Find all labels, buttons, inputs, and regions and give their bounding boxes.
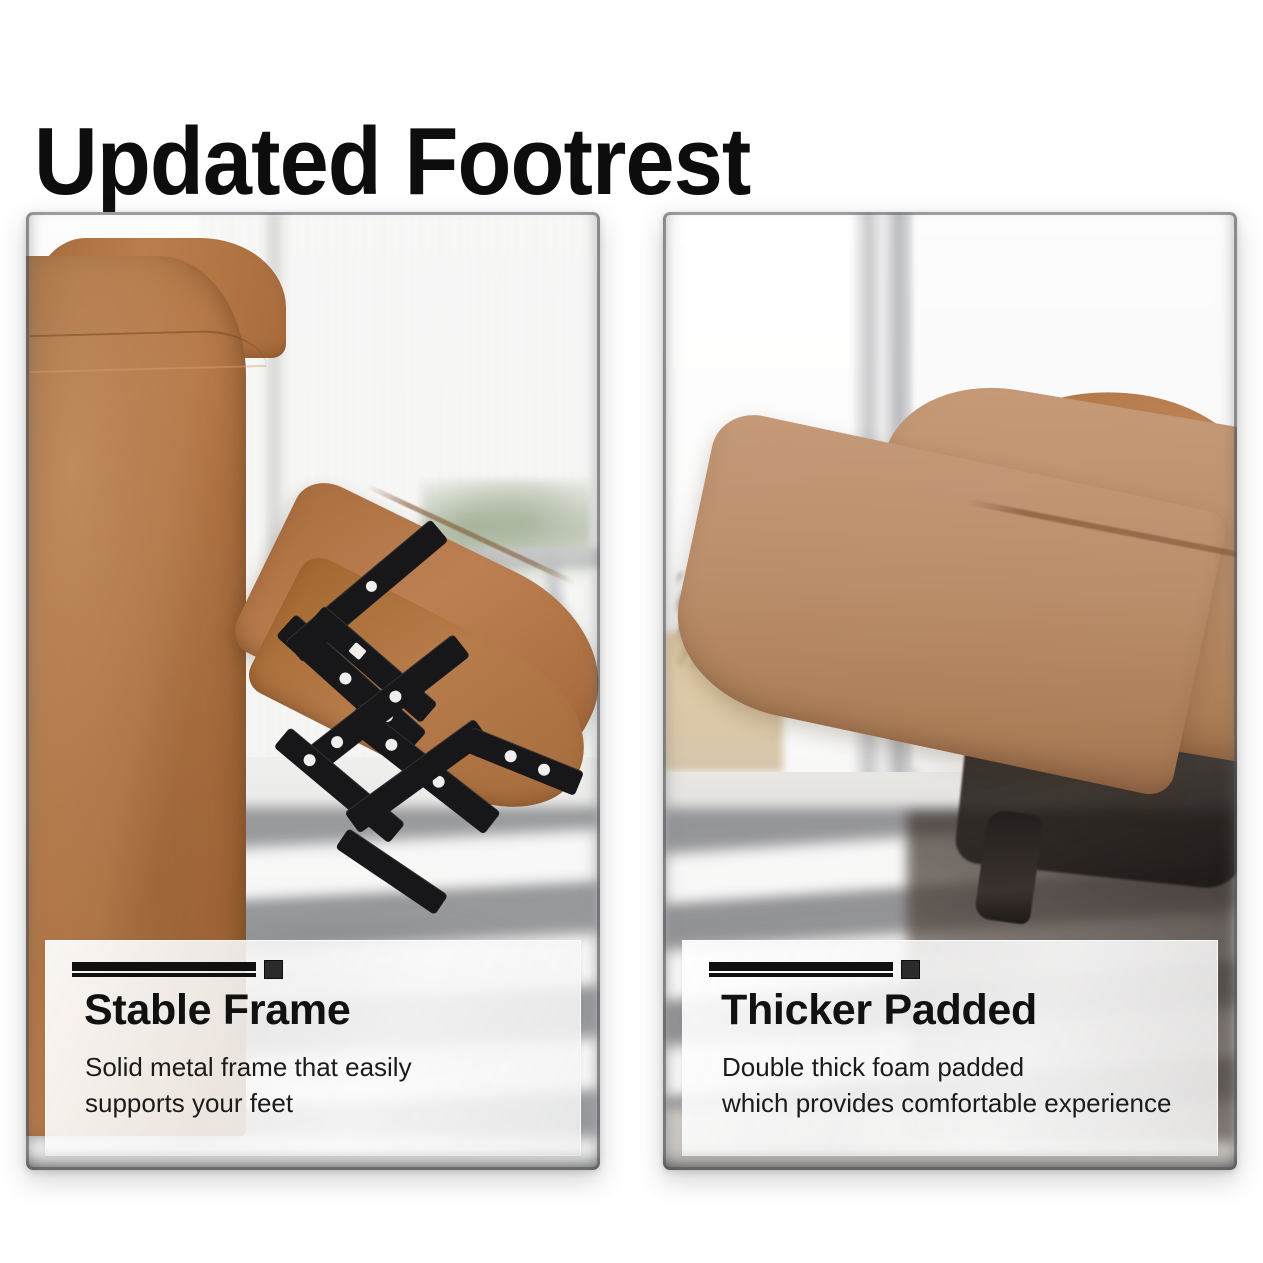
marker-bars — [72, 962, 256, 977]
caption-heading-right: Thicker Padded — [721, 985, 1037, 1035]
marker-bars — [709, 962, 893, 977]
panel-photo-left: Stable Frame Solid metal frame that easi… — [26, 212, 600, 1170]
caption-card-left: Stable Frame Solid metal frame that easi… — [45, 940, 581, 1156]
caption-card-right: Thicker Padded Double thick foam padded … — [682, 940, 1218, 1156]
feature-panel-thicker-padded[interactable]: Thicker Padded Double thick foam padded … — [663, 212, 1237, 1170]
marker-accent-right — [709, 959, 920, 979]
backrest-seam — [30, 329, 267, 373]
marker-accent-left — [72, 959, 283, 979]
marker-bar-thick — [709, 962, 893, 971]
caption-body-line: Solid metal frame that easily — [85, 1049, 566, 1085]
metal-scissor-mechanism — [292, 604, 592, 924]
marker-square — [901, 960, 920, 979]
caption-body-line: supports your feet — [85, 1085, 566, 1121]
mechanism-bar — [463, 727, 584, 796]
marker-bar-thick — [72, 962, 256, 971]
caption-body-line: which provides comfortable experience — [722, 1085, 1203, 1121]
marker-bar-thin — [709, 973, 893, 977]
caption-heading-left: Stable Frame — [84, 985, 350, 1035]
caption-body-line: Double thick foam padded — [722, 1049, 1203, 1085]
marker-bar-thin — [72, 973, 256, 977]
panel-photo-right: Thicker Padded Double thick foam padded … — [663, 212, 1237, 1170]
caption-body-right: Double thick foam padded which provides … — [722, 1049, 1203, 1121]
panel-row: Stable Frame Solid metal frame that easi… — [0, 0, 1263, 1263]
mechanism-bar — [335, 828, 448, 915]
marker-square — [264, 960, 283, 979]
caption-body-left: Solid metal frame that easily supports y… — [85, 1049, 566, 1121]
feature-panel-stable-frame[interactable]: Stable Frame Solid metal frame that easi… — [26, 212, 600, 1170]
